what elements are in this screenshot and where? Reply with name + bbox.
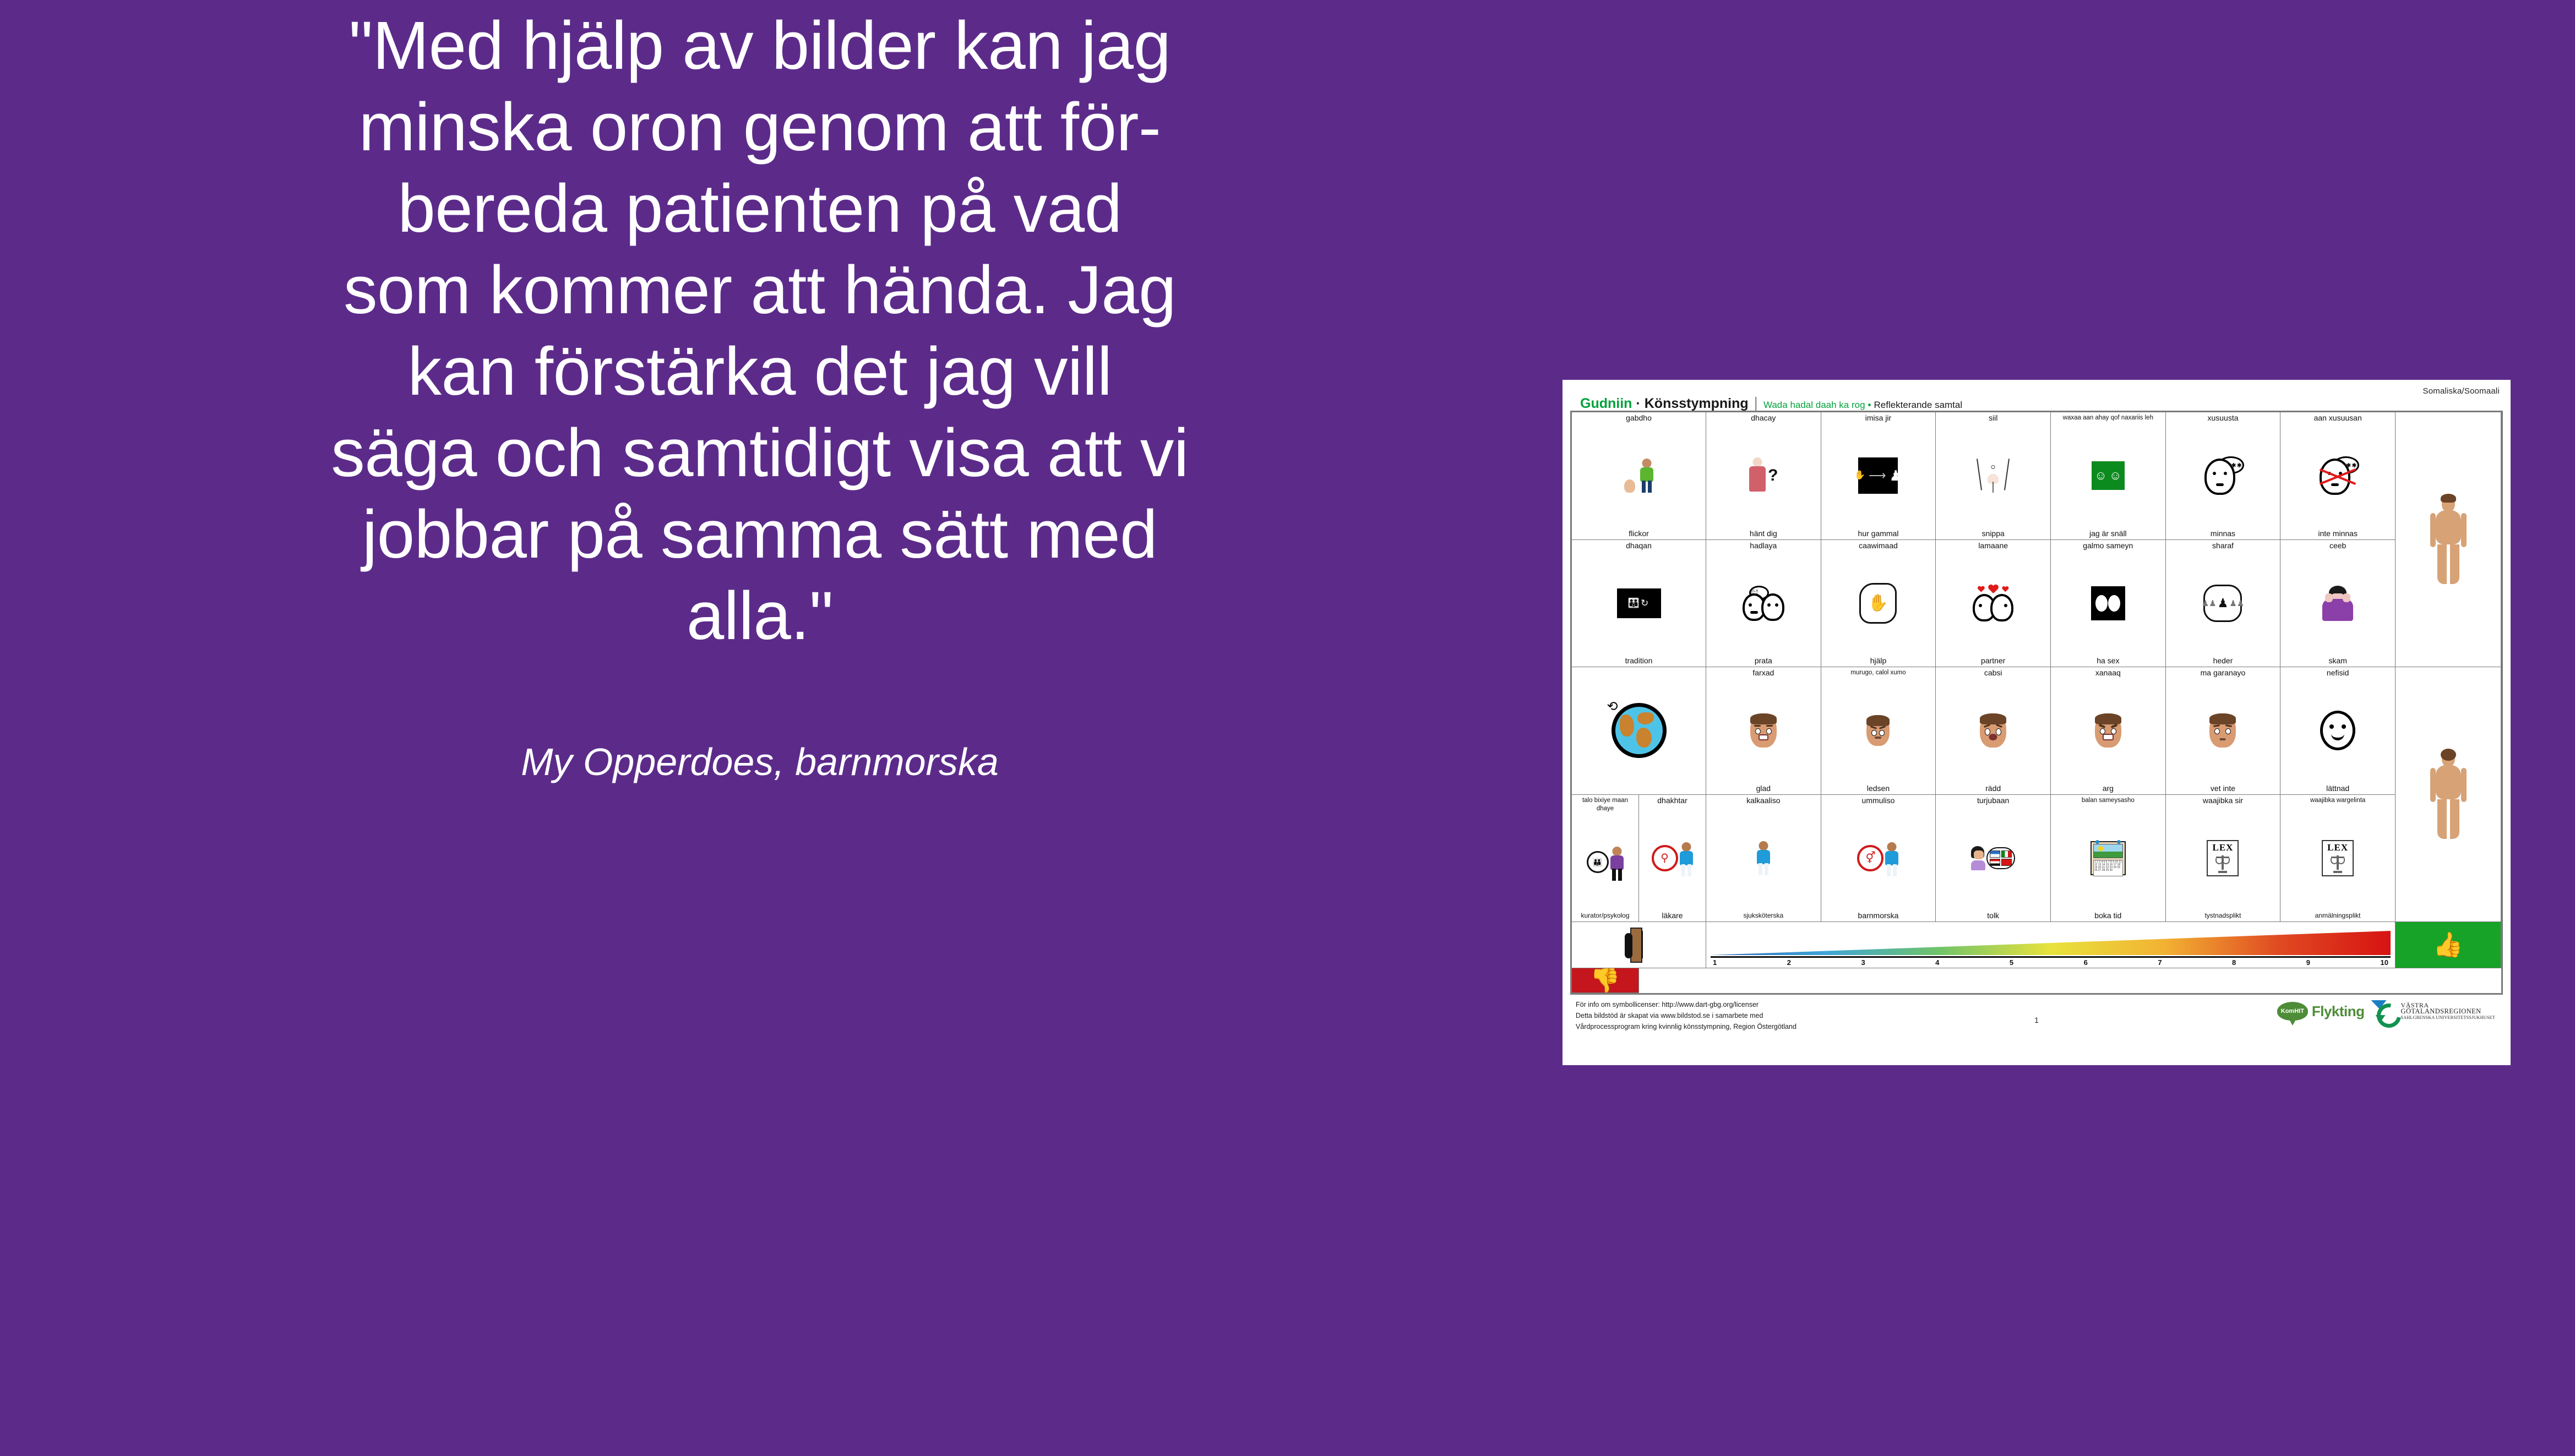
pictogram-cell-vulva[interactable]: siil snippa (1935, 412, 2051, 540)
partner-icon (1937, 550, 2049, 657)
doctor-icon: ⚲ (1640, 805, 1705, 912)
cell-label-swedish: inte minnas (2318, 530, 2358, 538)
page-number: 1 (2034, 1016, 2039, 1024)
komhit-flykting-logo: KomHIT Flykting (2277, 1002, 2365, 1021)
flags-bubble-icon (1986, 847, 2015, 869)
cell-label-somali: ma garanayo (2201, 669, 2246, 677)
vulva-icon (1937, 422, 2049, 530)
cell-label-swedish: skam (2328, 657, 2347, 665)
cell-label-swedish: kurator/psykolog (1581, 912, 1629, 920)
vgr-mark-icon (2371, 1000, 2397, 1022)
woman-question-icon: ? (1707, 422, 1820, 530)
cell-label-somali: dhakhtar (1657, 797, 1687, 805)
dontknow-face-icon (2167, 677, 2279, 784)
pictogram-cell-shame[interactable]: ceeb skam (2280, 539, 2396, 668)
pictogram-cell-remember[interactable]: xusuusta ✱✱✱✱ minnas (2165, 412, 2281, 540)
cell-label-somali: turjubaan (1977, 797, 2009, 805)
relief-smiley-icon (2282, 677, 2394, 784)
quote-line-4: som kommer att hända. Jag (344, 250, 1176, 331)
cell-label-swedish: läkare (1662, 912, 1683, 920)
pictogram-cell-girls[interactable]: gabdho flickor (1571, 412, 1706, 540)
pictogram-cell-reporting-duty[interactable]: waajibka wargelinta LEX anmälningsplikt (2280, 794, 2396, 923)
scale-number: 10 (2380, 958, 2388, 967)
cell-label-somali: lamaane (1978, 542, 2008, 550)
scale-number: 5 (2010, 958, 2013, 967)
pictogram-cell-nurse[interactable]: kalkaaliso sjuksköterska (1706, 794, 1821, 923)
counsellor-icon: 👪 (1573, 813, 1637, 912)
cell-label-swedish: vet inte (2211, 784, 2235, 793)
pictogram-cell-age[interactable]: imisa jir ✋ ⟶ ♟ hur gammal (1821, 412, 1936, 540)
pictogram-cell-talking[interactable]: hadlaya BLA BLA prata (1706, 539, 1821, 668)
cell-label-swedish: rädd (1985, 784, 2001, 793)
cell-label-somali: farxad (1752, 669, 1774, 677)
quote-line-5: kan förstärka det jag vill (407, 331, 1112, 413)
interpreter-icon (1937, 805, 2049, 912)
footer-logos: KomHIT Flykting VÄSTRA GÖTALANDSREGIONEN… (2277, 1000, 2495, 1022)
cell-label-swedish: heder (2213, 657, 2233, 665)
pictogram-cell-door-person[interactable] (1571, 921, 1706, 968)
pictogram-cell-counsellor[interactable]: talo bixiye maan dhaye 👪 kurator/psykolo… (1571, 794, 1639, 923)
cell-label-swedish: hur gammal (1858, 530, 1899, 538)
cell-label-swedish: tolk (1987, 912, 1999, 920)
pictogram-cell-globe[interactable]: ⟲ (1571, 667, 1706, 795)
vgr-line-2: GÖTALANDSREGIONEN (2401, 1008, 2495, 1015)
cell-label-swedish: snippa (1982, 530, 2005, 538)
pictogram-cell-thumbs-up[interactable]: 👍 (2395, 921, 2501, 968)
title-separator-dot: · (1632, 396, 1644, 412)
kind-person-icon: ☺☺ (2052, 422, 2164, 530)
happy-face-icon (1707, 677, 1820, 784)
cell-label-swedish: prata (1755, 657, 1772, 665)
cell-label-somali: sharaf (2212, 542, 2234, 550)
cell-label-swedish: hänt dig (1750, 530, 1777, 538)
thumbs-up-icon: 👍 (2396, 922, 2501, 968)
cell-label-swedish: lättnad (2326, 784, 2349, 793)
pictogram-cell-dont-know[interactable]: ma garanayo vet inte (2165, 667, 2281, 795)
remember-icon: ✱✱✱✱ (2167, 422, 2279, 530)
quote-line-6: säga och samtidigt visa att vi (331, 413, 1188, 494)
pictogram-cell-interpreter[interactable]: turjubaan tolk (1935, 794, 2051, 923)
card-footer: För info om symbollicenser: http://www.d… (1570, 995, 2503, 1061)
helping-hand-icon: ✋ (1822, 550, 1935, 657)
midwife-icon: ⚥ (1822, 805, 1935, 912)
cell-label-swedish: anmälningsplikt (2315, 912, 2361, 920)
scale-number: 4 (1935, 958, 1939, 967)
cell-label-somali: caawimaad (1859, 542, 1898, 550)
pictogram-cell-tradition[interactable]: dhaqan 👪↻ tradition (1571, 539, 1706, 668)
cell-label-swedish: barnmorska (1858, 912, 1899, 920)
pictogram-cell-relief[interactable]: nefisid lättnad (2280, 667, 2396, 795)
scale-number: 8 (2232, 958, 2236, 967)
cell-label-somali: siil (1989, 414, 1997, 422)
lex-reporting-icon: LEX (2282, 805, 2394, 912)
girls-icon (1573, 422, 1705, 530)
vgr-line-3: SAHLGRENSKA UNIVERSITETSSJUKHUSET (2401, 1015, 2495, 1021)
quote-line-7: jobbar på samma sätt med (362, 494, 1157, 576)
title-somali: Gudniin (1580, 396, 1632, 412)
quote-line-2: minska oron genom att för- (359, 87, 1161, 168)
subtitle-somali: Wada hadal daah ka rog (1763, 400, 1865, 411)
cell-label-somali: imisa jir (1865, 414, 1891, 422)
cell-label-somali: dhaqan (1626, 542, 1652, 550)
angry-face-icon (2052, 677, 2164, 784)
cell-label-somali: waxaa aan ahay qof naxariis leh (2063, 414, 2153, 422)
cell-label-somali: talo bixiye maan dhaye (1573, 797, 1637, 813)
card-title: Gudniin · Könsstympning | Wada hadal daa… (1580, 394, 1962, 412)
pictogram-cell-body-back[interactable] (2395, 667, 2501, 922)
scale-number: 6 (2084, 958, 2088, 967)
komhit-badge: KomHIT (2277, 1002, 2308, 1021)
pain-scale-numbers: 1 2 3 4 5 6 7 8 9 10 (1711, 958, 2391, 967)
pictogram-cell-i-am-kind[interactable]: waxaa aan ahay qof naxariis leh ☺☺ jag ä… (2050, 412, 2166, 540)
quote-block: "Med hjälp av bilder kan jag minska oron… (0, 0, 1520, 1456)
thumbs-down-icon: 👎 (1572, 968, 1638, 993)
cell-label-somali: xusuusta (2207, 414, 2238, 422)
cell-label-somali: waajibka wargelinta (2310, 797, 2365, 805)
komhit-wordmark: Flykting (2312, 1003, 2365, 1020)
tradition-icon: 👪↻ (1573, 550, 1705, 657)
body-back-icon (2397, 669, 2500, 920)
pictogram-cell-angry[interactable]: xanaaq arg (2050, 667, 2166, 795)
cell-label-swedish: ledsen (1867, 784, 1890, 793)
quote-line-8: alla." (687, 576, 833, 657)
pictogram-cell-midwife[interactable]: ummuliso ⚥ barnmorska (1821, 794, 1936, 923)
vgr-logo: VÄSTRA GÖTALANDSREGIONEN SAHLGRENSKA UNI… (2371, 1000, 2495, 1022)
scale-number: 7 (2158, 958, 2162, 967)
cell-label-swedish: tystnadsplikt (2204, 912, 2241, 920)
honour-icon: ♟♟♟♟♟ (2167, 550, 2279, 657)
scale-number: 3 (1861, 958, 1865, 967)
cell-label-somali: waajibka sir (2203, 797, 2243, 805)
pictogram-support-card: Somaliska/Soomaali Gudniin · Könsstympni… (1563, 380, 2511, 1065)
cell-label-somali: aan xusuusan (2314, 414, 2362, 422)
scared-face-icon (1937, 677, 2049, 784)
talking-icon: BLA BLA (1707, 550, 1820, 657)
cell-label-swedish: ha sex (2097, 657, 2119, 665)
cell-label-somali: cabsi (1984, 669, 2002, 677)
nurse-icon (1707, 805, 1820, 912)
scale-number: 2 (1787, 958, 1791, 967)
cell-label-somali: nefisid (2327, 669, 2349, 677)
cell-label-somali: dhacay (1751, 414, 1776, 422)
subtitle-dot: • (1865, 400, 1874, 411)
cell-label-swedish: arg (2103, 784, 2114, 793)
pictogram-cell-have-sex[interactable]: galmo sameyn ha sex (2050, 539, 2166, 668)
pictogram-cell-scared[interactable]: cabsi rädd (1935, 667, 2051, 795)
cell-label-somali: gabdho (1626, 414, 1652, 422)
pictogram-cell-thumbs-down[interactable]: 👎 (1571, 968, 1639, 993)
pictogram-cell-happened[interactable]: dhacay ? hänt dig (1706, 412, 1821, 540)
footer-line-3: Vårdprocessprogram kring kvinnlig könsst… (1576, 1021, 1796, 1032)
red-cross-icon (2318, 457, 2357, 494)
shame-icon (2282, 550, 2394, 657)
age-growth-icon: ✋ ⟶ ♟ (1822, 422, 1935, 530)
cell-label-somali: balan sameysasho (2082, 797, 2135, 805)
cell-label-somali: xanaaq (2095, 669, 2121, 677)
scale-number: 9 (2306, 958, 2310, 967)
pictogram-cell-doctor[interactable]: dhakhtar ⚲ läkare (1638, 794, 1706, 923)
card-header: Somaliska/Soomaali Gudniin · Könsstympni… (1570, 385, 2503, 411)
sad-face-icon (1822, 677, 1935, 784)
pictogram-grid: gabdho flickor dhacay ? hänt dig imisa j… (1570, 411, 2503, 995)
scale-number: 1 (1713, 958, 1717, 967)
pictogram-cell-confidentiality[interactable]: waajibka sir LEX tystnadsplikt (2165, 794, 2281, 923)
cell-label-swedish: hjälp (1870, 657, 1887, 665)
cell-label-swedish: partner (1981, 657, 2005, 665)
language-tag: Somaliska/Soomaali (2423, 386, 2500, 396)
cell-label-swedish: glad (1756, 784, 1771, 793)
not-remember-icon: ✱✱✱✱ (2282, 422, 2394, 530)
pictogram-cell-happy[interactable]: farxad glad (1706, 667, 1821, 795)
cell-label-swedish: sjuksköterska (1743, 912, 1783, 920)
cell-label-swedish: jag är snäll (2089, 530, 2127, 538)
quote-line-1: "Med hjälp av bilder kan jag (349, 6, 1171, 87)
cell-label-swedish: flickor (1629, 530, 1649, 538)
globe-icon: ⟲ (1573, 669, 1705, 793)
cell-label-somali: ceeb (2329, 542, 2346, 550)
sex-icon (2052, 550, 2164, 657)
cell-label-somali: kalkaaliso (1746, 797, 1780, 805)
pain-scale-icon: 1 2 3 4 5 6 7 8 9 10 (1711, 931, 2391, 967)
pictogram-cell-body-front[interactable] (2395, 412, 2501, 667)
cell-label-swedish: boka tid (2094, 912, 2121, 920)
pictogram-cell-pain-scale[interactable]: 1 2 3 4 5 6 7 8 9 10 (1706, 921, 2396, 968)
door-person-icon (1573, 924, 1705, 966)
pictogram-cell-not-remember[interactable]: aan xusuusan ✱✱✱✱ inte minnas (2280, 412, 2396, 540)
cell-label-somali: hadlaya (1750, 542, 1777, 550)
pictogram-cell-partner[interactable]: lamaane partner (1935, 539, 2051, 668)
lex-confidentiality-icon: LEX (2167, 805, 2279, 912)
body-front-icon (2397, 414, 2500, 665)
calendar-icon: 1 2 3 4 5 6 7 8 9 10 11 12 13 14 15 16 1… (2052, 805, 2164, 912)
footer-license-text: För info om symbollicenser: http://www.d… (1576, 999, 1796, 1032)
cell-label-somali: ummuliso (1862, 797, 1895, 805)
cell-label-swedish: tradition (1625, 657, 1653, 665)
quote-line-3: bereda patienten på vad (398, 168, 1122, 250)
pictogram-cell-sad[interactable]: murugo, calol xumo ledsen (1821, 667, 1936, 795)
pictogram-cell-help[interactable]: caawimaad ✋ hjälp (1821, 539, 1936, 668)
footer-line-2: Detta bildstöd är skapat via www.bildsto… (1576, 1010, 1796, 1021)
pictogram-cell-honour[interactable]: sharaf ♟♟♟♟♟ heder (2165, 539, 2281, 668)
title-divider: | (1749, 394, 1763, 412)
pictogram-cell-book-appointment[interactable]: balan sameysasho 1 2 3 4 5 6 7 8 9 10 11… (2050, 794, 2166, 923)
quote-attribution: My Opperdoes, barnmorska (521, 740, 999, 784)
title-swedish: Könsstympning (1645, 396, 1749, 412)
cell-label-somali: galmo sameyn (2083, 542, 2133, 550)
footer-line-1: För info om symbollicenser: http://www.d… (1576, 999, 1796, 1010)
subtitle-swedish: Reflekterande samtal (1874, 400, 1963, 411)
cell-label-swedish: minnas (2211, 530, 2235, 538)
cell-label-somali: murugo, calol xumo (1850, 669, 1906, 677)
